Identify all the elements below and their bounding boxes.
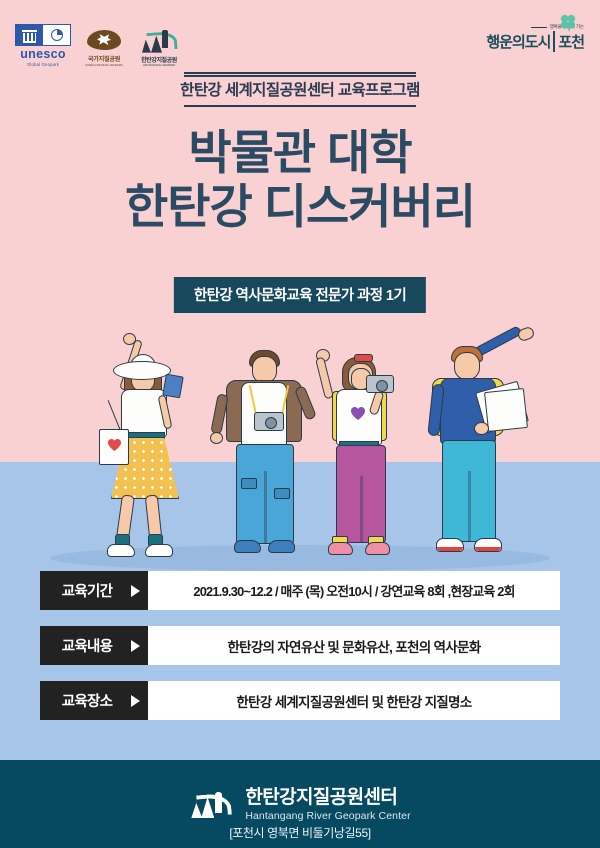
national-geopark-emblem-icon xyxy=(84,28,124,52)
national-geopark-logo: 국가지질공원 KOREA NATIONAL GEOPARK xyxy=(81,28,127,68)
partner-logo-group: unesco Global Geopark 국가지질공원 KOREA NATIO… xyxy=(14,24,182,67)
hantangang-geopark-emblem-icon xyxy=(138,28,180,54)
detail-row-period: 교육기간 2021.9.30~12.2 / 매주 (목) 오전10시 / 강연교… xyxy=(40,571,560,610)
pocheon-city-name: 포천 xyxy=(553,31,584,52)
unesco-wordmark: unesco xyxy=(20,48,66,61)
illustration-figure-girl-taking-photo xyxy=(310,345,428,565)
footer-name-english: Hantangang River Geopark Center xyxy=(245,810,410,822)
pocheon-wordmark: 행운의도시 xyxy=(486,31,550,52)
footer-name-block: 한탄강지질공원센터 Hantangang River Geopark Cente… xyxy=(245,788,410,822)
poster-canvas: unesco Global Geopark 국가지질공원 KOREA NATIO… xyxy=(0,0,600,848)
title-line-1: 박물관 대학 xyxy=(0,128,600,178)
detail-label-content: 교육내용 xyxy=(40,626,148,665)
program-details-list: 교육기간 2021.9.30~12.2 / 매주 (목) 오전10시 / 강연교… xyxy=(40,571,560,720)
program-header-text: 한탄강 세계지질공원센터 교육프로그램 xyxy=(0,82,600,101)
unesco-emblem-icon xyxy=(15,24,71,46)
title-line-2: 한탄강 디스커버리 xyxy=(0,182,600,232)
detail-label-period: 교육기간 xyxy=(40,571,148,610)
national-geopark-name: 국가지질공원 xyxy=(88,54,120,63)
pocheon-city-logo: 행복을 만들어 가는 행운의도시 포천 xyxy=(486,24,584,52)
program-header-block: 한탄강 세계지질공원센터 교육프로그램 xyxy=(0,72,600,107)
illustration-figure-girl-with-hat xyxy=(85,333,215,565)
detail-value-period: 2021.9.30~12.2 / 매주 (목) 오전10시 / 강연교육 8회 … xyxy=(148,571,560,610)
course-subtitle-badge: 한탄강 역사문화교육 전문가 과정 1기 xyxy=(174,277,426,313)
hantangang-geopark-subtitle: HANTANGANG GEOPARK xyxy=(143,64,176,67)
detail-label-location: 교육장소 xyxy=(40,681,148,720)
poster-title: 박물관 대학 한탄강 디스커버리 xyxy=(0,128,600,232)
hantangang-geopark-center-logo-icon xyxy=(189,788,235,822)
header-rule-bottom xyxy=(184,105,416,107)
detail-row-content: 교육내용 한탄강의 자연유산 및 문화유산, 포천의 역사문화 xyxy=(40,626,560,665)
hantangang-geopark-name: 한탄강지질공원 xyxy=(141,55,177,64)
detail-row-location: 교육장소 한탄강 세계지질공원센터 및 한탄강 지질명소 xyxy=(40,681,560,720)
clover-icon xyxy=(558,12,578,32)
illustration-figure-boy-pointing xyxy=(418,330,548,565)
unesco-logo: unesco Global Geopark xyxy=(14,24,72,67)
national-geopark-subtitle: KOREA NATIONAL GEOPARK xyxy=(85,63,123,67)
footer-organization-logo: 한탄강지질공원센터 Hantangang River Geopark Cente… xyxy=(0,788,600,822)
header-rule-top xyxy=(184,72,416,77)
pocheon-wordmark-row: 행운의도시 포천 xyxy=(486,31,584,52)
hantangang-geopark-logo: 한탄강지질공원 HANTANGANG GEOPARK xyxy=(136,28,182,68)
illustration-figure-boy-with-camera xyxy=(208,340,326,565)
unesco-subtitle: Global Geopark xyxy=(27,62,59,67)
footer-address: [포천시 영북면 비둘기낭길55] xyxy=(0,824,600,841)
detail-value-location: 한탄강 세계지질공원센터 및 한탄강 지질명소 xyxy=(148,681,560,720)
detail-value-content: 한탄강의 자연유산 및 문화유산, 포천의 역사문화 xyxy=(148,626,560,665)
footer-name-korean: 한탄강지질공원센터 xyxy=(245,788,410,809)
